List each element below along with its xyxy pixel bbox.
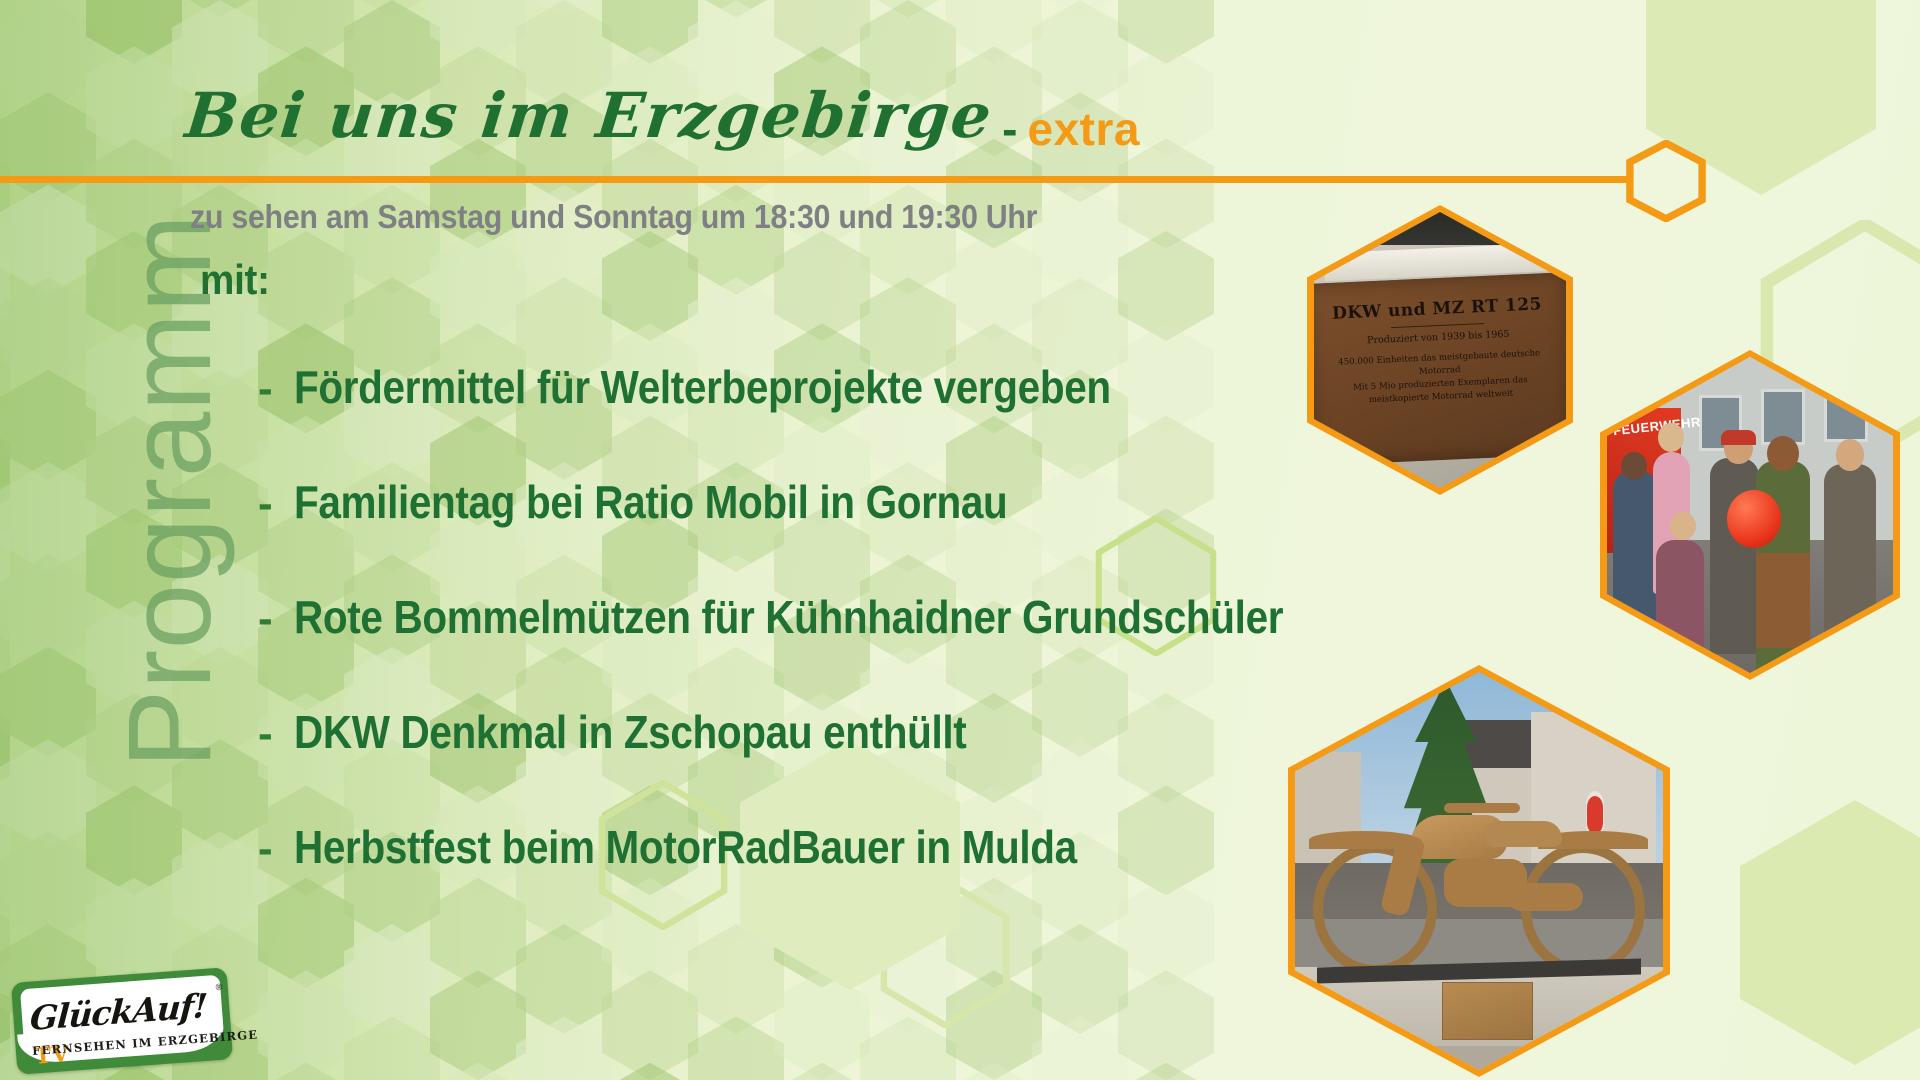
list-bullet-icon: - xyxy=(258,594,294,644)
list-item-label: Fördermittel für Welterbeprojekte vergeb… xyxy=(294,360,1111,414)
registered-trademark-icon: ® xyxy=(215,982,222,992)
list-bullet-icon: - xyxy=(258,709,294,759)
glueckauf-tv-logo: GlückAuf!TV ® FERNSEHEN IM ERZGEBIRGE xyxy=(14,975,230,1067)
honeycomb-cell xyxy=(1032,1016,1128,1080)
hexagon-photo-clip: FEUERWEHR xyxy=(1607,357,1893,673)
list-item: - Familientag bei Ratio Mobil in Gornau xyxy=(258,475,1318,590)
list-item-label: DKW Denkmal in Zschopau enthüllt xyxy=(294,705,966,759)
program-item-list: - Fördermittel für Welterbeprojekte verg… xyxy=(258,360,1318,935)
list-bullet-icon: - xyxy=(258,479,294,529)
page-title: Bei uns im Erzgebirge-extra xyxy=(186,85,1140,160)
bronze-motorcycle-sculpture xyxy=(1306,775,1652,974)
list-item: - Rote Bommelmützen für Kühnhaidner Grun… xyxy=(258,590,1318,705)
dkw-motorcycle-monument-photo xyxy=(1288,665,1670,1077)
monument-plaque xyxy=(1442,982,1532,1040)
broadcast-times-subtitle: zu sehen am Samstag und Sonntag um 18:30… xyxy=(190,198,1037,236)
list-item-label: Familientag bei Ratio Mobil in Gornau xyxy=(294,475,1007,529)
family-day-crowd-photo: FEUERWEHR xyxy=(1600,350,1900,680)
honeycomb-cell xyxy=(946,1063,1042,1080)
list-bullet-icon: - xyxy=(258,824,294,874)
page-title-script: Bei uns im Erzgebirge xyxy=(183,85,996,147)
plaque-title: DKW und MZ RT 125 xyxy=(1326,294,1548,324)
plaque-years: Produziert von 1939 bis 1965 xyxy=(1327,327,1549,348)
orange-hexagon-endcap-icon xyxy=(1625,140,1707,222)
broadcast-slide: Programm Bei uns im Erzgebirge-extra zu … xyxy=(0,0,1920,1080)
list-item: - Herbstfest beim MotorRadBauer in Mulda xyxy=(258,820,1318,935)
page-title-extra: extra xyxy=(1028,102,1140,156)
with-label: mit: xyxy=(200,256,270,304)
list-item-label: Herbstfest beim MotorRadBauer in Mulda xyxy=(294,820,1077,874)
list-item: - DKW Denkmal in Zschopau enthüllt xyxy=(258,705,1318,820)
title-underline-rule xyxy=(0,176,1632,183)
list-item-label: Rote Bommelmützen für Kühnhaidner Grunds… xyxy=(294,590,1283,644)
hexagon-photo-clip xyxy=(1295,672,1663,1070)
plaque-inscription: DKW und MZ RT 125 Produziert von 1939 bi… xyxy=(1325,282,1554,463)
filled-hexagon-decor-3 xyxy=(1740,800,1920,1065)
list-bullet-icon: - xyxy=(258,364,294,414)
honeycomb-cell xyxy=(774,1063,870,1080)
page-title-dash: - xyxy=(992,102,1027,156)
dkw-plaque-photo: DKW und MZ RT 125 Produziert von 1939 bi… xyxy=(1307,205,1573,495)
list-item: - Fördermittel für Welterbeprojekte verg… xyxy=(258,360,1318,475)
honeycomb-cell xyxy=(1118,1063,1214,1080)
